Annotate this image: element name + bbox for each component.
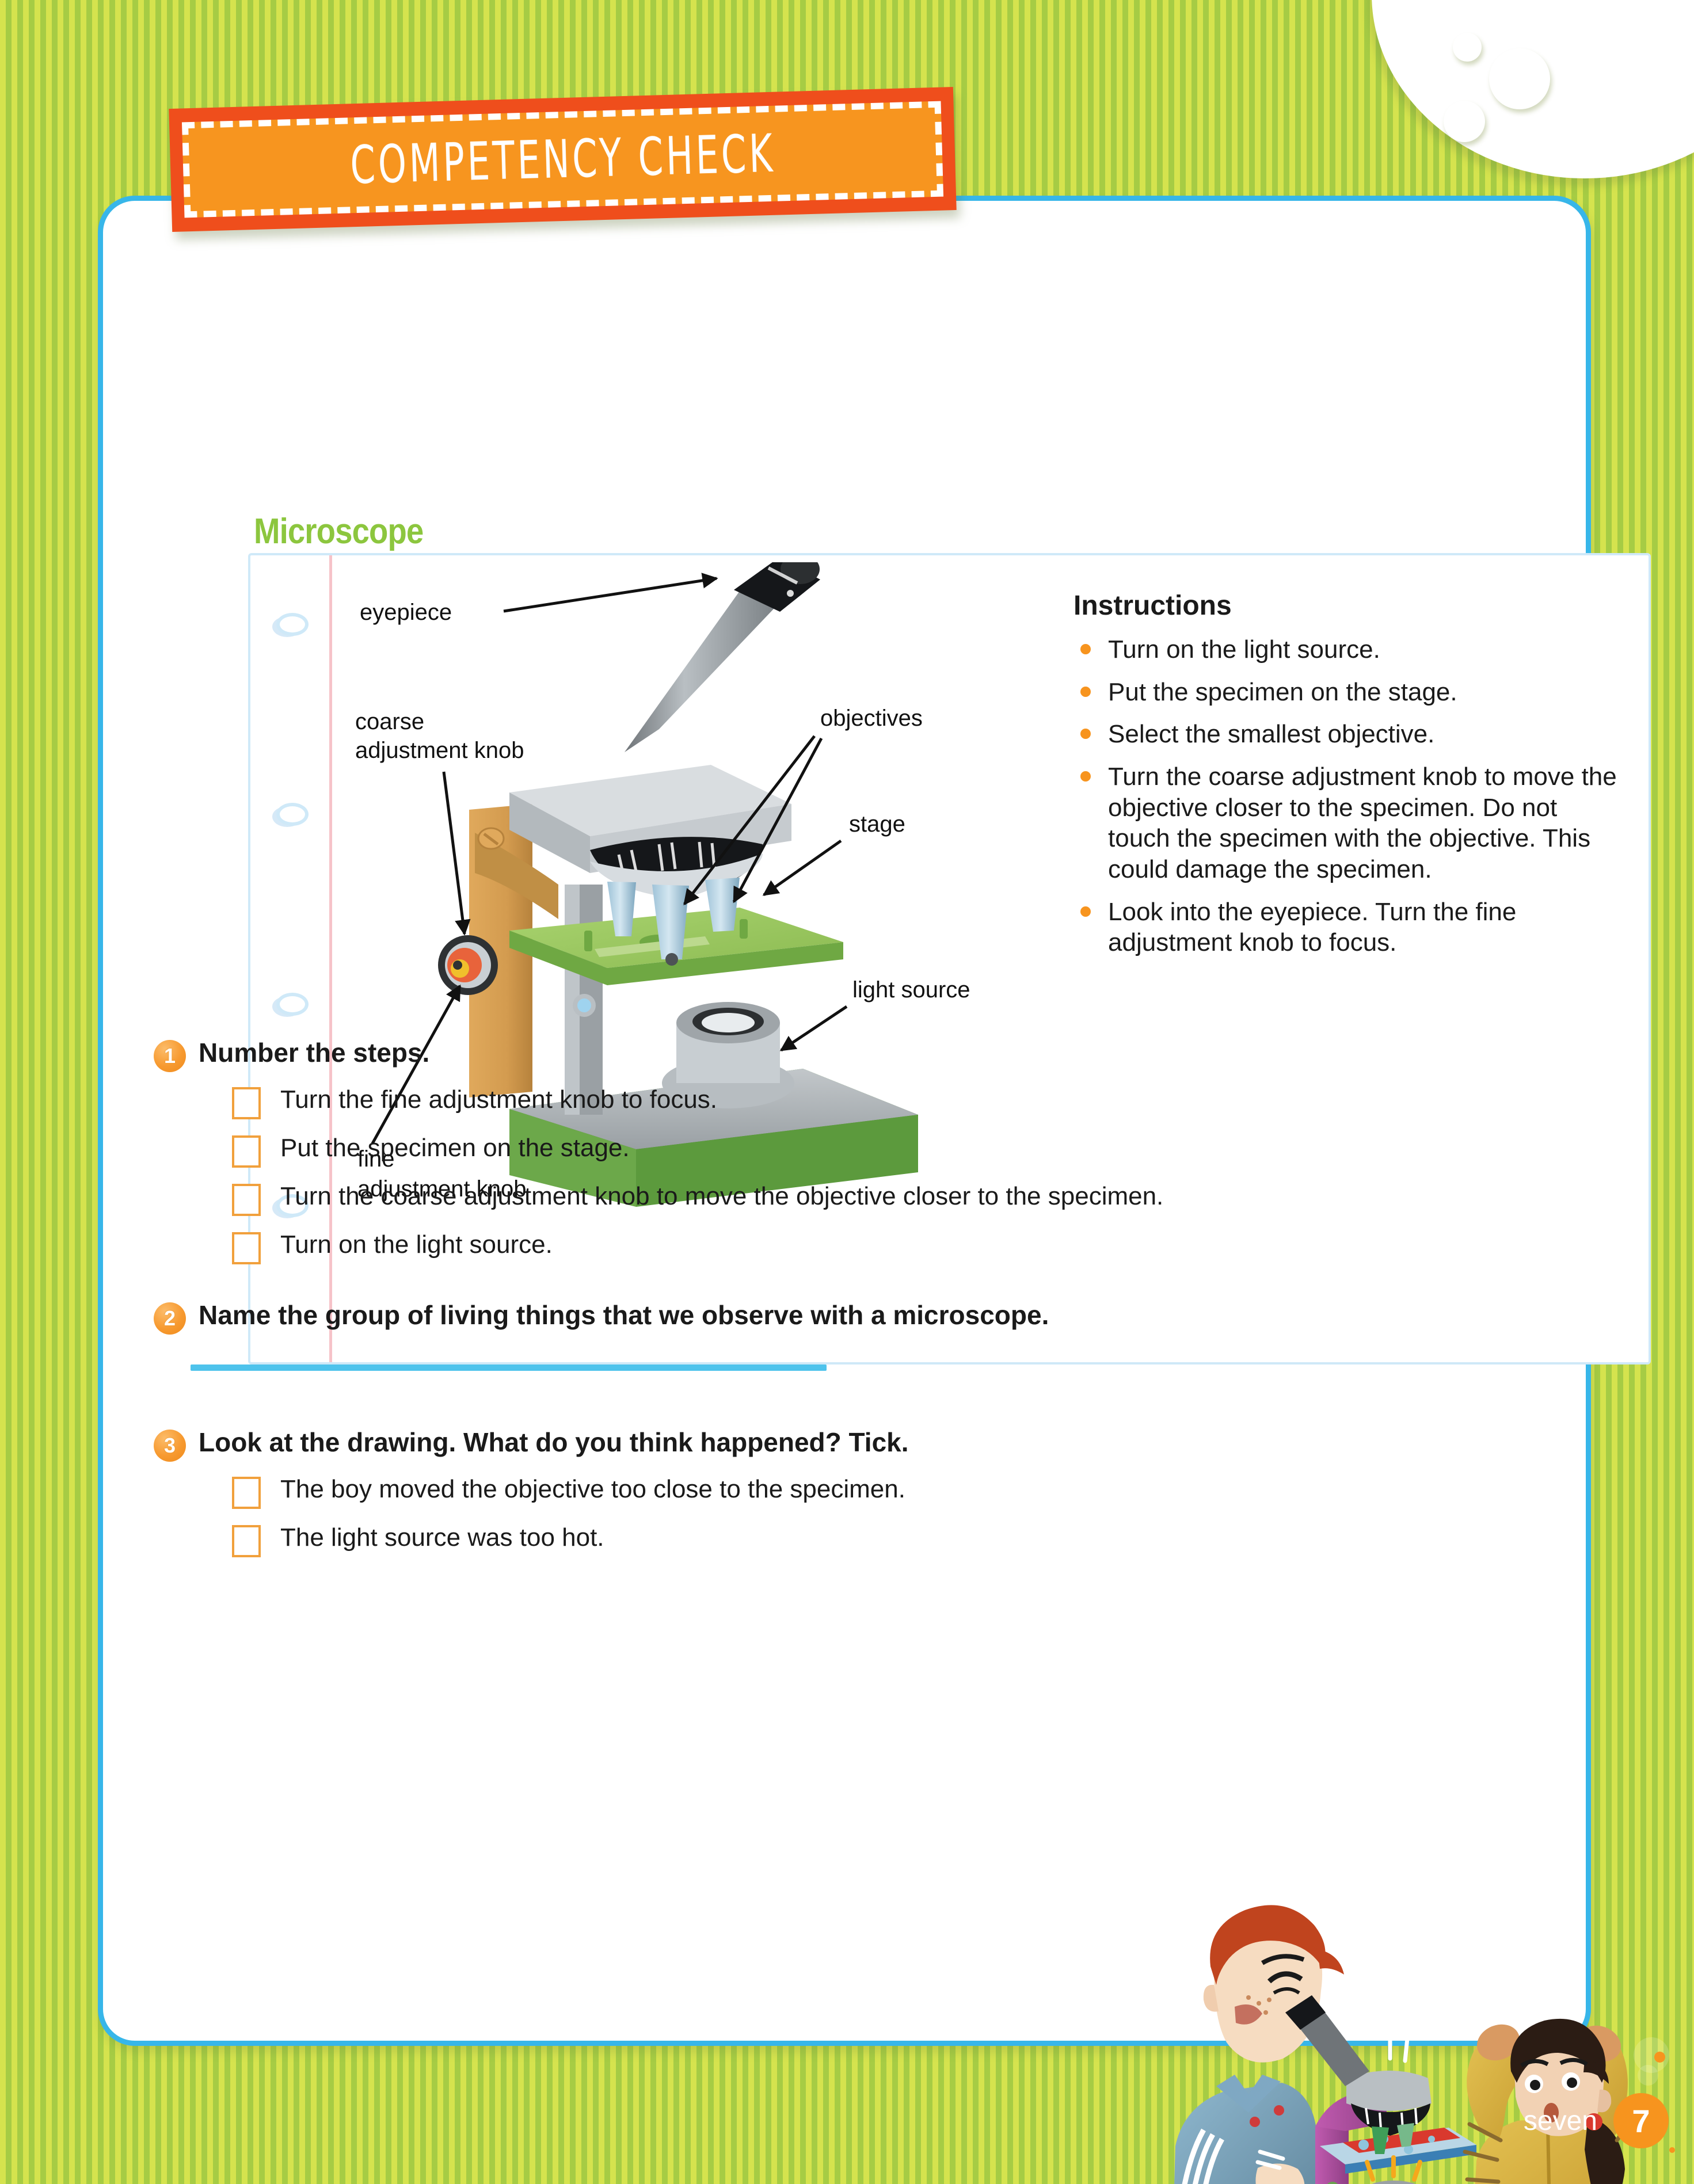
- question-2-header: 2 Name the group of living things that w…: [154, 1299, 1547, 1335]
- decorative-circle-large: [1489, 48, 1550, 109]
- instruction-item: Turn the coarse adjustment knob to move …: [1073, 761, 1626, 885]
- checkbox-input[interactable]: [232, 1232, 261, 1264]
- competency-check-banner: COMPETENCY CHECK: [169, 87, 956, 232]
- punch-hole-icon: [276, 993, 309, 1016]
- question-1-options: Turn the fine adjustment knob to focus. …: [232, 1085, 1547, 1264]
- bullet-icon: [1080, 729, 1091, 739]
- page-title: Microscope: [254, 511, 423, 552]
- diagram-label-coarse-line2: adjustment knob: [355, 738, 524, 763]
- instruction-text: Turn the coarse adjustment knob to move …: [1108, 761, 1626, 885]
- checkbox-input[interactable]: [232, 1525, 261, 1557]
- questions-section: 1 Number the steps. Turn the fine adjust…: [154, 1036, 1547, 1571]
- option-label: The boy moved the objective too close to…: [280, 1474, 905, 1505]
- content-card: Microscope: [98, 196, 1591, 2046]
- banner-title: COMPETENCY CHECK: [349, 123, 776, 196]
- diagram-label-eyepiece: eyepiece: [360, 600, 452, 625]
- option-label: Turn the coarse adjustment knob to move …: [280, 1181, 1163, 1212]
- bullet-icon: [1080, 906, 1091, 917]
- option-row[interactable]: Turn the fine adjustment knob to focus.: [232, 1085, 1547, 1119]
- question-prompt: Look at the drawing. What do you think h…: [199, 1426, 909, 1459]
- instruction-item: Turn on the light source.: [1073, 634, 1626, 665]
- option-row[interactable]: Turn on the light source.: [232, 1230, 1547, 1264]
- option-label: Put the specimen on the stage.: [280, 1133, 630, 1164]
- bullet-icon: [1080, 771, 1091, 782]
- bullet-icon: [1080, 687, 1091, 697]
- checkbox-input[interactable]: [232, 1477, 261, 1509]
- question-3-options: The boy moved the objective too close to…: [232, 1474, 951, 1557]
- banner-frame: COMPETENCY CHECK: [169, 87, 956, 232]
- instruction-text: Put the specimen on the stage.: [1108, 677, 1457, 708]
- bullet-icon: [1080, 644, 1091, 654]
- option-row[interactable]: The boy moved the objective too close to…: [232, 1474, 951, 1509]
- diagram-label-coarse-line1: coarse: [355, 709, 424, 734]
- instruction-text: Look into the eyepiece. Turn the fine ad…: [1108, 897, 1626, 958]
- option-row[interactable]: Turn the coarse adjustment knob to move …: [232, 1181, 1547, 1216]
- page-number-word: seven: [1524, 2105, 1597, 2137]
- punch-hole-icon: [276, 613, 309, 636]
- answer-write-line[interactable]: [191, 1364, 827, 1371]
- option-label: Turn on the light source.: [280, 1230, 553, 1260]
- diagram-label-stage: stage: [849, 811, 905, 837]
- question-prompt: Name the group of living things that we …: [199, 1299, 1049, 1332]
- page-footer: seven 7: [1524, 2093, 1669, 2148]
- question-number-badge: 3: [154, 1430, 186, 1462]
- punch-hole-icon: [276, 803, 309, 826]
- instructions-list: Turn on the light source. Put the specim…: [1073, 634, 1626, 958]
- instruction-item: Look into the eyepiece. Turn the fine ad…: [1073, 897, 1626, 958]
- option-row[interactable]: The light source was too hot.: [232, 1523, 951, 1557]
- diagram-label-light-source: light source: [852, 977, 970, 1003]
- checkbox-input[interactable]: [232, 1135, 261, 1168]
- option-label: Turn the fine adjustment knob to focus.: [280, 1085, 717, 1115]
- checkbox-input[interactable]: [232, 1087, 261, 1119]
- instruction-text: Select the smallest objective.: [1108, 719, 1434, 750]
- decorative-circle-small: [1453, 33, 1482, 62]
- instruction-item: Select the smallest objective.: [1073, 719, 1626, 750]
- instructions-panel: Instructions Turn on the light source. P…: [1073, 590, 1626, 970]
- option-row[interactable]: Put the specimen on the stage.: [232, 1133, 1547, 1168]
- decorative-circle-medium: [1444, 101, 1485, 142]
- question-2: 2 Name the group of living things that w…: [154, 1299, 1547, 1371]
- worksheet-page: Microscope: [0, 0, 1694, 2184]
- instructions-title: Instructions: [1073, 590, 1626, 622]
- diagram-label-objectives: objectives: [820, 706, 923, 731]
- question-number-badge: 1: [154, 1040, 186, 1072]
- decorative-orange-dot-two: [1669, 2147, 1675, 2153]
- decorative-orange-dot-one: [1654, 2052, 1665, 2063]
- decorative-bubble-two: [1638, 2065, 1658, 2086]
- question-3: 3 Look at the drawing. What do you think…: [154, 1426, 1547, 1557]
- instruction-item: Put the specimen on the stage.: [1073, 677, 1626, 708]
- question-prompt: Number the steps.: [199, 1036, 429, 1070]
- question-number-badge: 2: [154, 1302, 186, 1335]
- option-label: The light source was too hot.: [280, 1523, 604, 1553]
- banner-inner: COMPETENCY CHECK: [182, 101, 943, 218]
- instruction-text: Turn on the light source.: [1108, 634, 1380, 665]
- question-3-header: 3 Look at the drawing. What do you think…: [154, 1426, 1547, 1462]
- checkbox-input[interactable]: [232, 1184, 261, 1216]
- page-number-badge: 7: [1613, 2093, 1669, 2148]
- question-1: 1 Number the steps. Turn the fine adjust…: [154, 1036, 1547, 1264]
- question-1-header: 1 Number the steps.: [154, 1036, 1547, 1072]
- eyepiece-tube: [625, 591, 774, 752]
